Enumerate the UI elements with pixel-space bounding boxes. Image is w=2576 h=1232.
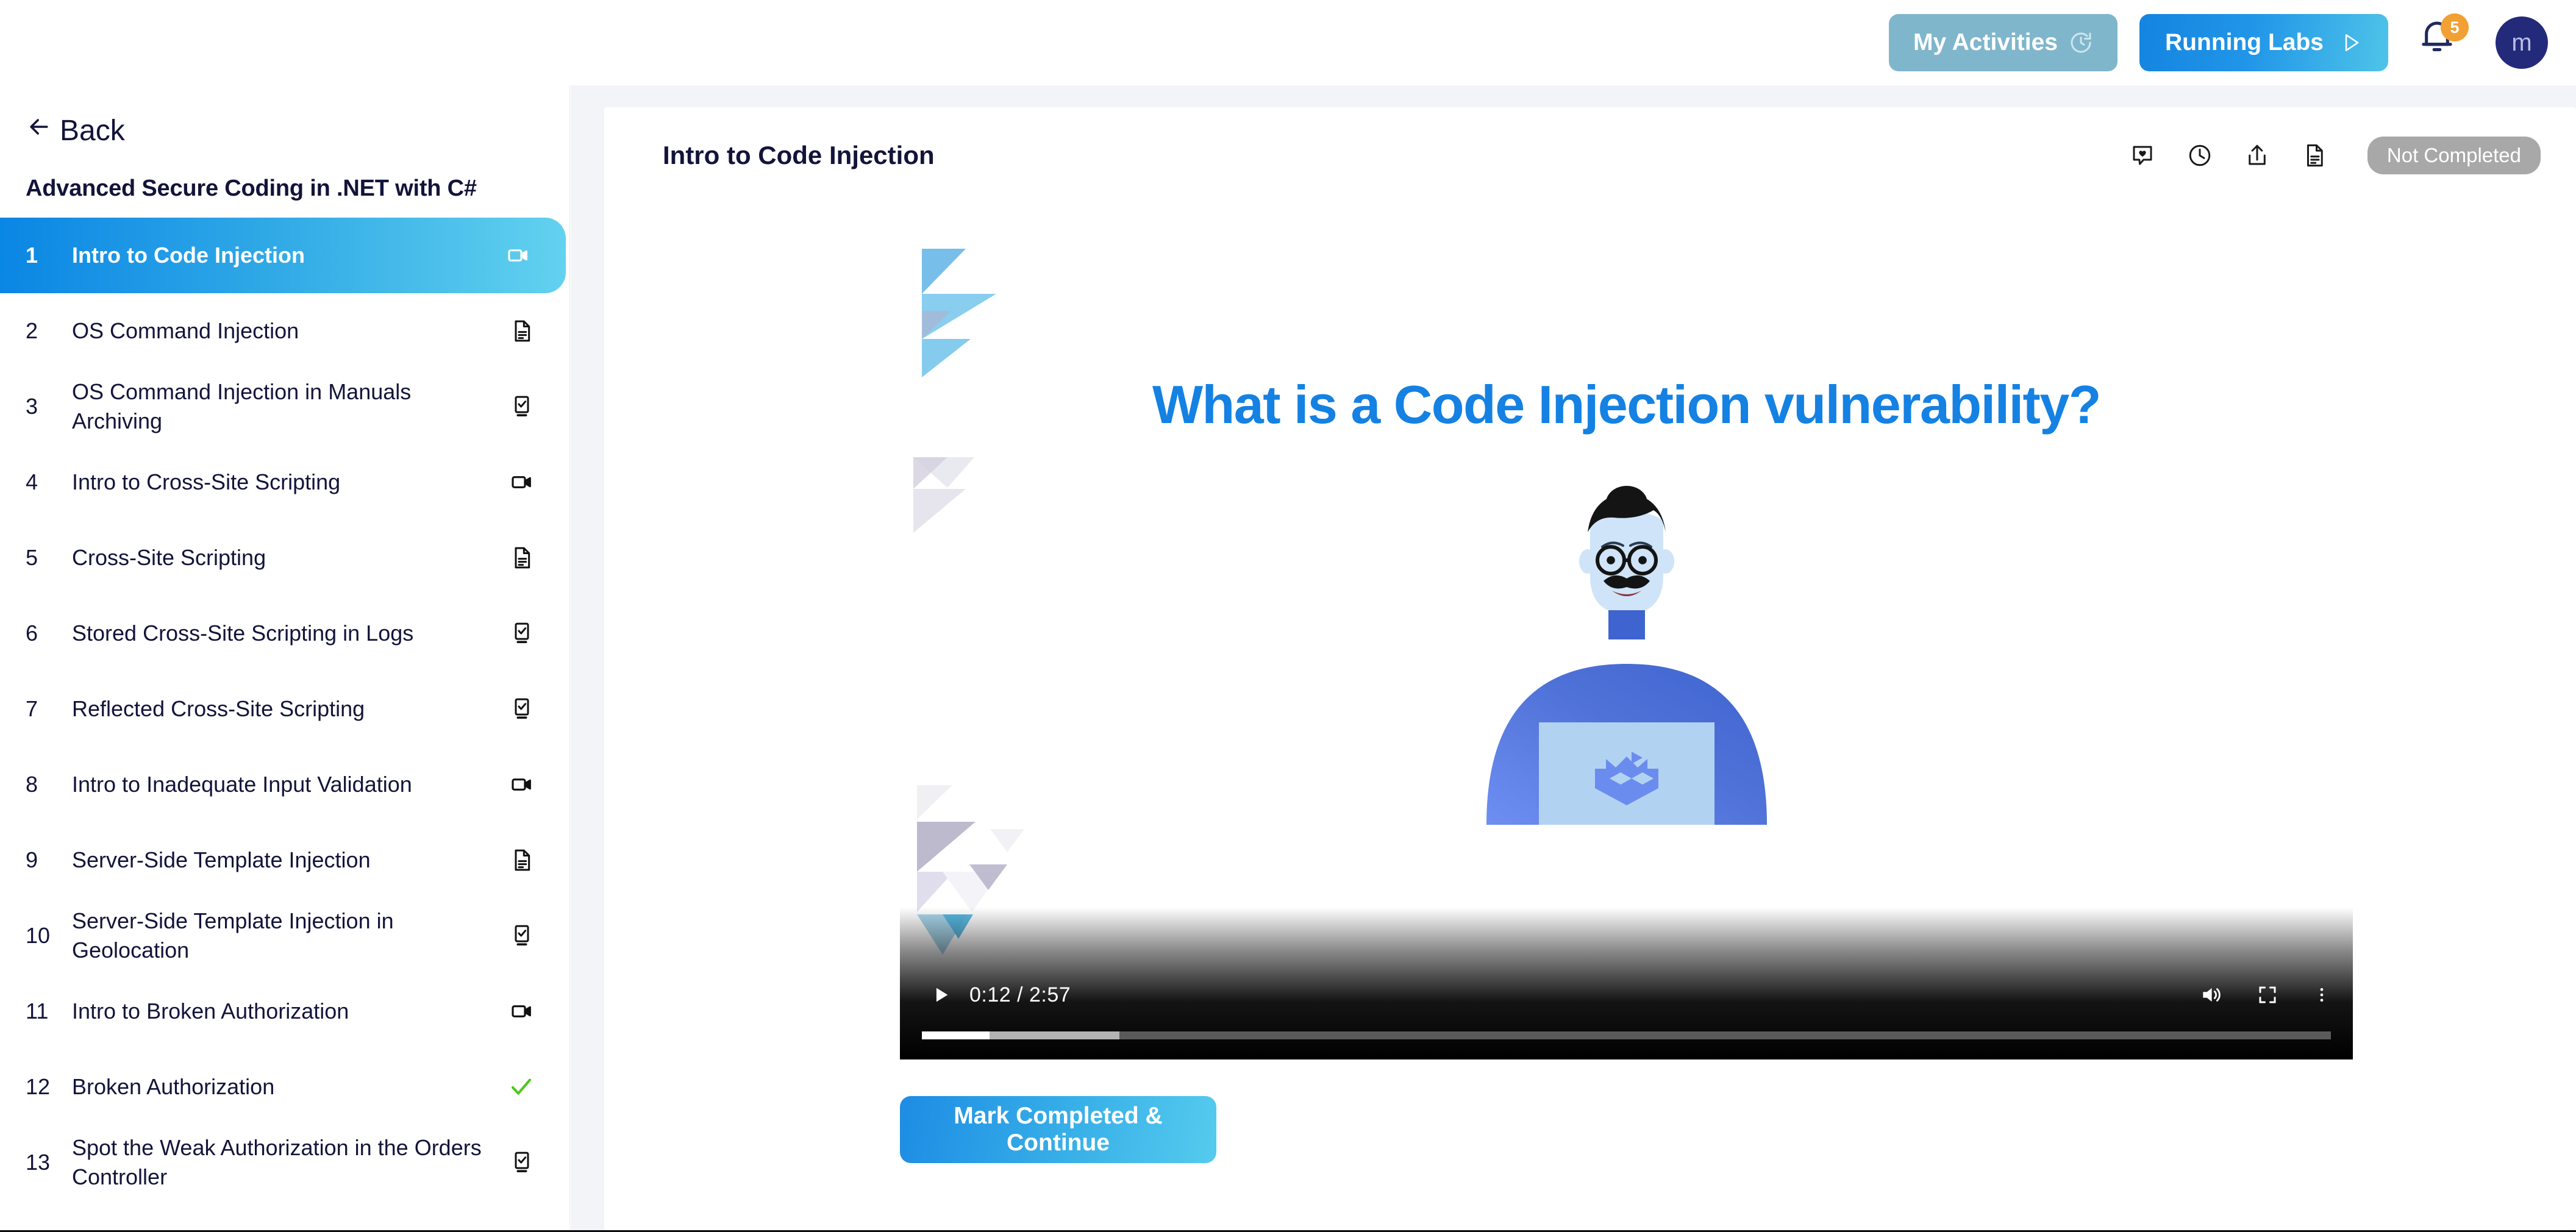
lesson-row[interactable]: 10Server-Side Template Injection in Geol… (0, 898, 569, 974)
lesson-row[interactable]: 8Intro to Inadequate Input Validation (0, 747, 569, 822)
kebab-menu-icon[interactable] (2313, 984, 2331, 1006)
feedback-heart-icon[interactable] (2130, 143, 2155, 168)
lesson-row[interactable]: 3OS Command Injection in Manuals Archivi… (0, 369, 569, 444)
video-controls: 0:12 / 2:57 (900, 970, 2353, 1019)
document-icon (506, 546, 534, 570)
video-player[interactable]: What is a Code Injection vulnerability? (900, 243, 2353, 1059)
share-icon[interactable] (2244, 143, 2270, 168)
lesson-row[interactable]: 12Broken Authorization (0, 1049, 569, 1125)
lesson-action-icons: Not Completed (2130, 137, 2541, 174)
lesson-list: 1Intro to Code Injection2OS Command Inje… (0, 218, 569, 1200)
slide-title: What is a Code Injection vulnerability? (900, 374, 2353, 436)
lesson-header: Intro to Code Injection (604, 107, 2576, 174)
running-labs-label: Running Labs (2165, 29, 2324, 56)
lesson-row[interactable]: 5Cross-Site Scripting (0, 520, 569, 596)
lesson-number: 6 (26, 621, 72, 646)
play-triangle-icon (2339, 31, 2363, 54)
lesson-label: OS Command Injection (72, 316, 506, 346)
lesson-row[interactable]: 6Stored Cross-Site Scripting in Logs (0, 596, 569, 671)
back-label: Back (60, 114, 125, 148)
lesson-label: Stored Cross-Site Scripting in Logs (72, 619, 506, 648)
video-camera-icon (506, 999, 534, 1024)
lesson-content-card: Intro to Code Injection (604, 107, 2576, 1230)
avatar[interactable]: m (2496, 16, 2548, 69)
my-activities-button[interactable]: My Activities (1889, 14, 2118, 71)
main-panel: Intro to Code Injection (571, 85, 2576, 1230)
lesson-label: Intro to Inadequate Input Validation (72, 770, 506, 799)
course-sidebar: Back Advanced Secure Coding in .NET with… (0, 85, 570, 1230)
clock-rotate-icon (2069, 30, 2093, 55)
lesson-row[interactable]: 13Spot the Weak Authorization in the Ord… (0, 1125, 569, 1200)
arrow-left-icon (26, 113, 52, 148)
back-button[interactable]: Back (26, 113, 125, 148)
lesson-row[interactable]: 7Reflected Cross-Site Scripting (0, 671, 569, 747)
lesson-label: Cross-Site Scripting (72, 543, 506, 572)
decorative-triangles-mid (911, 455, 1021, 552)
video-camera-icon (502, 243, 530, 268)
volume-icon[interactable] (2199, 983, 2222, 1006)
status-badge: Not Completed (2367, 137, 2541, 174)
lab-monitor-check-icon (506, 924, 534, 948)
lesson-label: Reflected Cross-Site Scripting (72, 694, 506, 724)
lesson-label: Intro to Code Injection (72, 241, 502, 270)
lesson-number: 10 (26, 923, 72, 949)
lesson-label: Intro to Broken Authorization (72, 997, 506, 1026)
lesson-number: 3 (26, 394, 72, 419)
progress-played (922, 1031, 990, 1039)
time-display: 0:12 / 2:57 (969, 983, 1071, 1007)
lesson-row[interactable]: 9Server-Side Template Injection (0, 822, 569, 898)
instructor-illustration (1444, 483, 1810, 825)
lesson-number: 5 (26, 545, 72, 571)
lesson-number: 11 (26, 999, 72, 1024)
lesson-label: Spot the Weak Authorization in the Order… (72, 1133, 506, 1191)
lesson-row[interactable]: 2OS Command Injection (0, 293, 569, 369)
mark-completed-continue-button[interactable]: Mark Completed & Continue (900, 1096, 1216, 1163)
lesson-number: 4 (26, 469, 72, 495)
notes-document-icon[interactable] (2302, 143, 2327, 168)
lesson-number: 2 (26, 318, 72, 344)
lesson-number: 13 (26, 1150, 72, 1175)
lesson-label: Server-Side Template Injection in Geoloc… (72, 906, 506, 964)
lesson-number: 7 (26, 696, 72, 722)
green-check-icon (506, 1074, 534, 1100)
fullscreen-icon[interactable] (2257, 984, 2278, 1006)
running-labs-button[interactable]: Running Labs (2139, 14, 2388, 71)
lesson-label: OS Command Injection in Manuals Archivin… (72, 377, 506, 435)
clock-icon[interactable] (2187, 143, 2213, 168)
notifications-button[interactable]: 5 (2417, 16, 2464, 69)
video-camera-icon (506, 772, 534, 797)
top-header: My Activities Running Labs 5 m (0, 0, 2576, 85)
decorative-triangles-top (911, 246, 1033, 380)
notification-count-badge: 5 (2441, 13, 2469, 41)
video-camera-icon (506, 470, 534, 494)
document-icon (506, 848, 534, 872)
lesson-label: Server-Side Template Injection (72, 846, 506, 875)
document-icon (506, 319, 534, 343)
lab-monitor-check-icon (506, 697, 534, 721)
lesson-number: 9 (26, 847, 72, 873)
lesson-row[interactable]: 11Intro to Broken Authorization (0, 974, 569, 1049)
lesson-number: 12 (26, 1074, 72, 1100)
course-title: Advanced Secure Coding in .NET with C# (26, 176, 569, 202)
play-button[interactable] (922, 980, 960, 1009)
avatar-initial: m (2511, 29, 2531, 57)
lesson-row[interactable]: 4Intro to Cross-Site Scripting (0, 444, 569, 520)
lesson-number: 8 (26, 772, 72, 797)
lab-monitor-check-icon (506, 621, 534, 646)
page-title: Intro to Code Injection (663, 141, 2130, 170)
lab-monitor-check-icon (506, 394, 534, 419)
video-progress-bar[interactable] (922, 1031, 2331, 1039)
lesson-row[interactable]: 1Intro to Code Injection (0, 218, 566, 293)
video-slide: What is a Code Injection vulnerability? (900, 243, 2353, 1059)
my-activities-label: My Activities (1913, 29, 2058, 56)
lesson-label: Intro to Cross-Site Scripting (72, 468, 506, 497)
lesson-number: 1 (26, 243, 72, 268)
lesson-label: Broken Authorization (72, 1072, 506, 1102)
lab-monitor-check-icon (506, 1150, 534, 1175)
